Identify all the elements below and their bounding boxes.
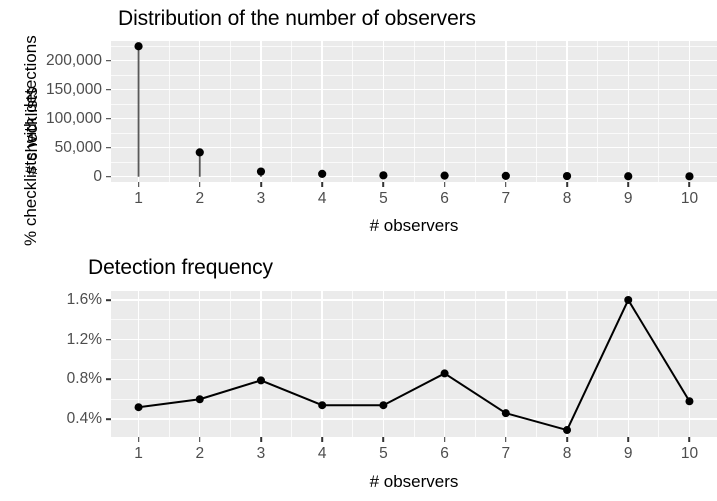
gridline-minor-vertical (658, 291, 659, 437)
y-axis-tick-label: 1.2% (0, 331, 102, 349)
top-chart-title: Distribution of the number of observers (118, 7, 476, 31)
y-axis-tick-label: 50,000 (0, 139, 102, 157)
figure-canvas: Distribution of the number of observers … (0, 0, 717, 501)
gridline-minor-vertical (536, 41, 537, 182)
gridline-minor-vertical (169, 291, 170, 437)
gridline-minor-vertical (352, 41, 353, 182)
x-axis-tick-label: 7 (502, 190, 511, 208)
bottom-y-axis-title: % checklists with detections (21, 35, 41, 246)
x-axis-tick-mark (444, 437, 446, 442)
x-axis-tick-mark (505, 182, 507, 187)
x-axis-tick-mark (627, 437, 629, 442)
x-axis-tick-label: 8 (563, 445, 572, 463)
y-axis-tick-label: 150,000 (0, 81, 102, 99)
gridline-minor-vertical (597, 41, 598, 182)
gridline-minor-vertical (475, 291, 476, 437)
gridline-major-vertical (689, 291, 690, 437)
x-axis-tick-label: 5 (379, 190, 388, 208)
x-axis-tick-label: 10 (681, 190, 698, 208)
x-axis-tick-label: 3 (257, 445, 266, 463)
bottom-chart-title: Detection frequency (88, 256, 273, 280)
x-axis-tick-mark (383, 182, 385, 187)
y-axis-tick-label: 1.6% (0, 291, 102, 309)
x-axis-tick-mark (260, 182, 262, 187)
gridline-minor-vertical (658, 41, 659, 182)
x-axis-tick-mark (444, 182, 446, 187)
gridline-major-vertical (260, 291, 261, 437)
y-axis-tick-mark (106, 339, 111, 341)
y-axis-tick-label: 100,000 (0, 110, 102, 128)
gridline-major-vertical (689, 41, 690, 182)
gridline-minor-vertical (291, 41, 292, 182)
y-axis-tick-mark (106, 89, 111, 91)
gridline-major-vertical (138, 291, 139, 437)
bottom-x-axis-title: # observers (370, 472, 459, 492)
x-axis-tick-label: 8 (563, 190, 572, 208)
x-axis-tick-mark (321, 437, 323, 442)
x-axis-tick-mark (689, 437, 691, 442)
gridline-major-vertical (566, 291, 567, 437)
gridline-major-vertical (505, 291, 506, 437)
gridline-minor-vertical (230, 291, 231, 437)
x-axis-tick-label: 1 (134, 445, 143, 463)
y-axis-tick-label: 200,000 (0, 52, 102, 70)
y-axis-tick-label: 0.4% (0, 410, 102, 428)
gridline-minor-vertical (536, 291, 537, 437)
gridline-minor-vertical (291, 291, 292, 437)
x-axis-tick-label: 2 (195, 190, 204, 208)
gridline-minor-vertical (169, 41, 170, 182)
y-axis-tick-mark (106, 118, 111, 120)
gridline-major-vertical (199, 41, 200, 182)
gridline-major-vertical (260, 41, 261, 182)
x-axis-tick-mark (689, 182, 691, 187)
gridline-major-vertical (566, 41, 567, 182)
x-axis-tick-mark (138, 182, 140, 187)
gridline-major-vertical (628, 291, 629, 437)
x-axis-tick-label: 6 (440, 190, 449, 208)
top-plot-panel (111, 41, 717, 182)
x-axis-tick-label: 9 (624, 445, 633, 463)
x-axis-tick-mark (627, 182, 629, 187)
gridline-major-vertical (383, 41, 384, 182)
gridline-major-vertical (138, 41, 139, 182)
y-axis-tick-mark (106, 418, 111, 420)
gridline-major-vertical (444, 41, 445, 182)
x-axis-tick-label: 6 (440, 445, 449, 463)
x-axis-tick-mark (199, 182, 201, 187)
bottom-plot-panel (111, 291, 717, 437)
y-axis-tick-label: 0 (0, 168, 102, 186)
gridline-minor-vertical (414, 41, 415, 182)
x-axis-tick-label: 4 (318, 190, 327, 208)
x-axis-tick-label: 2 (195, 445, 204, 463)
x-axis-tick-mark (321, 182, 323, 187)
gridline-minor-vertical (352, 291, 353, 437)
gridline-major-vertical (505, 41, 506, 182)
gridline-minor-vertical (475, 41, 476, 182)
gridline-minor-vertical (597, 291, 598, 437)
chart-distribution-of-observers: Distribution of the number of observers … (0, 0, 717, 245)
x-axis-tick-label: 3 (257, 190, 266, 208)
x-axis-tick-mark (505, 437, 507, 442)
x-axis-tick-label: 10 (681, 445, 698, 463)
chart-detection-frequency: Detection frequency 0.4%0.8%1.2%1.6% 123… (0, 245, 717, 501)
x-axis-tick-label: 9 (624, 190, 633, 208)
gridline-minor-vertical (230, 41, 231, 182)
gridline-major-vertical (321, 291, 322, 437)
y-axis-tick-mark (106, 176, 111, 178)
y-axis-tick-mark (106, 147, 111, 149)
x-axis-tick-label: 5 (379, 445, 388, 463)
gridline-major-vertical (383, 291, 384, 437)
x-axis-tick-mark (138, 437, 140, 442)
y-axis-tick-label: 0.8% (0, 370, 102, 388)
top-x-axis-title: # observers (370, 216, 459, 236)
x-axis-tick-label: 7 (502, 445, 511, 463)
x-axis-tick-label: 1 (134, 190, 143, 208)
gridline-minor-vertical (414, 291, 415, 437)
x-axis-tick-mark (383, 437, 385, 442)
y-axis-tick-mark (106, 60, 111, 62)
y-axis-tick-mark (106, 299, 111, 301)
gridline-major-vertical (444, 291, 445, 437)
x-axis-tick-mark (566, 437, 568, 442)
gridline-major-vertical (321, 41, 322, 182)
y-axis-tick-mark (106, 379, 111, 381)
x-axis-tick-mark (199, 437, 201, 442)
gridline-major-vertical (199, 291, 200, 437)
x-axis-tick-label: 4 (318, 445, 327, 463)
gridline-major-vertical (628, 41, 629, 182)
x-axis-tick-mark (566, 182, 568, 187)
x-axis-tick-mark (260, 437, 262, 442)
